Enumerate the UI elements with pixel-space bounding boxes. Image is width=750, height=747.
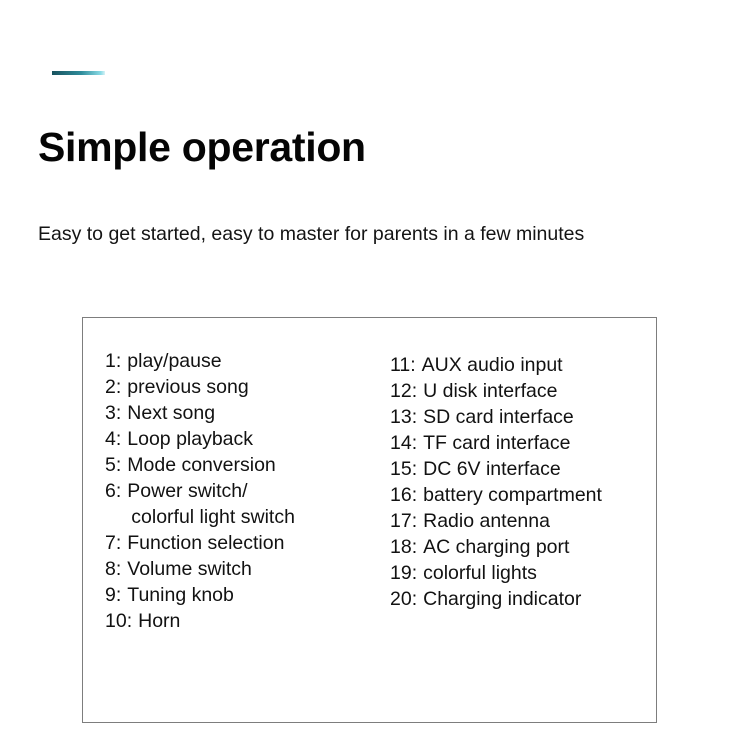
legend-item: 2:previous song <box>105 374 375 400</box>
legend-item: 9:Tuning knob <box>105 582 375 608</box>
legend-item-number: 18: <box>390 534 417 560</box>
legend-item: 5:Mode conversion <box>105 452 375 478</box>
legend-item: 16:battery compartment <box>390 482 650 508</box>
legend-item-number: 17: <box>390 508 417 534</box>
legend-item-number: 3: <box>105 400 121 426</box>
legend-item-number: 1: <box>105 348 121 374</box>
legend-item-number: 2: <box>105 374 121 400</box>
legend-item-number: 20: <box>390 586 417 612</box>
product-feature-page: Simple operation Easy to get started, ea… <box>0 0 750 747</box>
legend-item: 20:Charging indicator <box>390 586 650 612</box>
legend-item: 4:Loop playback <box>105 426 375 452</box>
legend-item: 7:Function selection <box>105 530 375 556</box>
legend-item: 17:Radio antenna <box>390 508 650 534</box>
legend-item-label: Radio antenna <box>423 508 550 534</box>
legend-item: 14:TF card interface <box>390 430 650 456</box>
legend-item-label: SD card interface <box>423 404 574 430</box>
legend-item-label: AUX audio input <box>422 352 563 378</box>
legend-item: 10:Horn <box>105 608 375 634</box>
legend-item-label: Function selection <box>127 530 284 556</box>
legend-item-label: TF card interface <box>423 430 570 456</box>
page-subtitle: Easy to get started, easy to master for … <box>38 223 584 246</box>
legend-item: 15:DC 6V interface <box>390 456 650 482</box>
legend-item: 6:Power switch/colorful light switch <box>105 478 375 530</box>
legend-item-label: Mode conversion <box>127 452 276 478</box>
legend-item-number: 11: <box>390 352 416 378</box>
legend-item-label: Horn <box>138 608 180 634</box>
legend-item: 18:AC charging port <box>390 534 650 560</box>
legend-item-number: 14: <box>390 430 417 456</box>
legend-item-number: 5: <box>105 452 121 478</box>
legend-item-label-continued: colorful light switch <box>131 504 295 530</box>
legend-item: 8:Volume switch <box>105 556 375 582</box>
legend-item-number: 9: <box>105 582 121 608</box>
legend-item: 12:U disk interface <box>390 378 650 404</box>
legend-item-label: AC charging port <box>423 534 569 560</box>
legend-item-number: 12: <box>390 378 417 404</box>
legend-item-label: U disk interface <box>423 378 557 404</box>
legend-item-number: 16: <box>390 482 417 508</box>
legend-item-number: 7: <box>105 530 121 556</box>
legend-item-number: 13: <box>390 404 417 430</box>
legend-item: 19:colorful lights <box>390 560 650 586</box>
legend-item-label: battery compartment <box>423 482 602 508</box>
legend-item-number: 4: <box>105 426 121 452</box>
legend-item-number: 15: <box>390 456 417 482</box>
accent-rule <box>52 71 105 75</box>
legend-item-number: 8: <box>105 556 121 582</box>
legend-item-label: Loop playback <box>127 426 253 452</box>
control-legend-box: 1:play/pause2:previous song3:Next song4:… <box>82 317 657 723</box>
legend-item-label: Volume switch <box>127 556 252 582</box>
legend-item-label: Next song <box>127 400 215 426</box>
legend-column-right: 11:AUX audio input12:U disk interface13:… <box>390 352 650 612</box>
legend-item-label: play/pause <box>127 348 221 374</box>
legend-item-label: Power switch/colorful light switch <box>127 478 295 530</box>
legend-item: 13:SD card interface <box>390 404 650 430</box>
legend-item-label: DC 6V interface <box>423 456 561 482</box>
legend-item: 1:play/pause <box>105 348 375 374</box>
legend-item-label: previous song <box>127 374 248 400</box>
legend-column-left: 1:play/pause2:previous song3:Next song4:… <box>105 348 375 634</box>
legend-item: 3:Next song <box>105 400 375 426</box>
legend-item-label: Tuning knob <box>127 582 234 608</box>
legend-item-number: 6: <box>105 478 121 504</box>
legend-item-label: colorful lights <box>423 560 537 586</box>
page-title: Simple operation <box>38 124 366 171</box>
legend-item-number: 19: <box>390 560 417 586</box>
legend-item-label: Charging indicator <box>423 586 581 612</box>
legend-item: 11:AUX audio input <box>390 352 650 378</box>
legend-item-number: 10: <box>105 608 132 634</box>
